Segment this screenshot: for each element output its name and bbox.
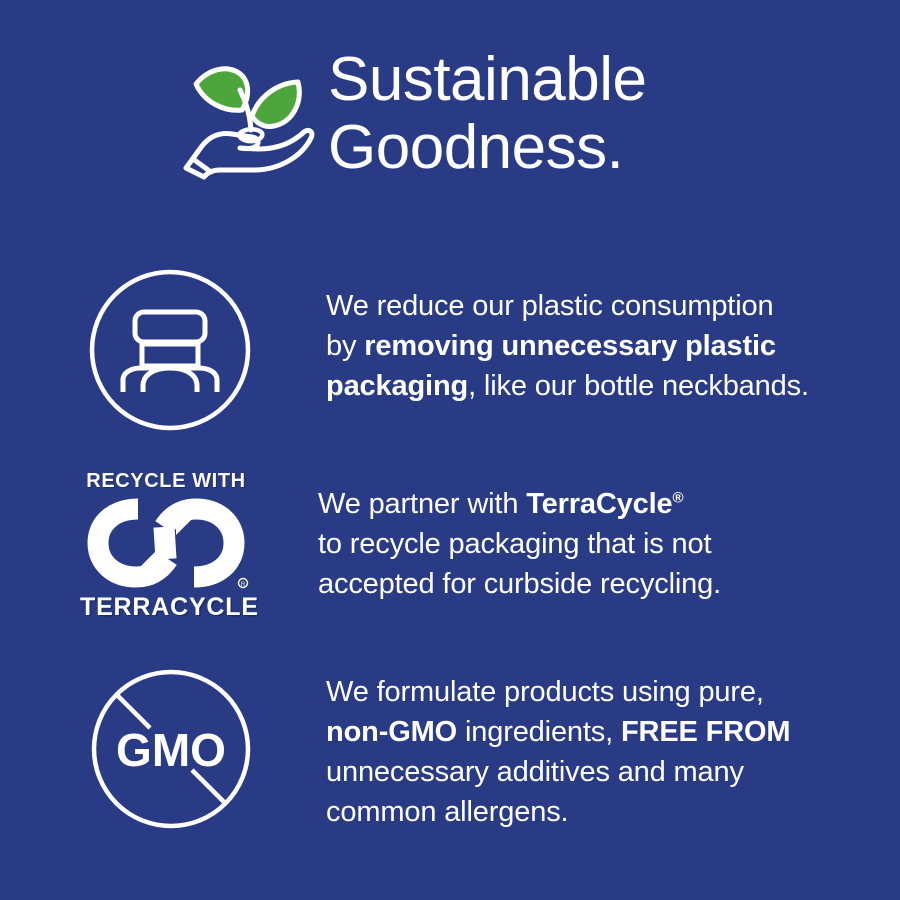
feature-row-plastic-reduction: We reduce our plastic consumption by rem…	[88, 268, 809, 432]
headline-line-2: Goodness.	[328, 114, 647, 182]
feature-text-plastic-reduction: We reduce our plastic consumption by rem…	[326, 286, 809, 406]
headline-line-1: Sustainable	[328, 46, 647, 114]
text-span-bold: non-GMO	[326, 716, 457, 748]
mobius-infinity-arrows-icon: R	[80, 495, 252, 591]
feature-text-non-gmo: We formulate products using pure, non-GM…	[326, 672, 790, 832]
brand-name: TerraCycle	[526, 488, 672, 520]
text-line: packaging, like our bottle neckbands.	[326, 366, 809, 406]
svg-text:R: R	[241, 582, 246, 588]
registered-mark: ®	[673, 489, 684, 506]
text-span-bold: packaging	[326, 370, 468, 402]
text-line: non-GMO ingredients, FREE FROM	[326, 712, 790, 752]
terracycle-logo-top-text: RECYCLE WITH	[80, 470, 252, 492]
no-gmo-circle-icon: GMO	[90, 668, 252, 830]
text-span-bold: removing unnecessary plastic	[364, 330, 776, 362]
bottle-neckband-circle-icon	[88, 268, 252, 432]
gmo-label: GMO	[116, 724, 226, 776]
sustainable-goodness-infographic: Sustainable Goodness. We reduce our plas…	[0, 0, 900, 900]
text-line: We reduce our plastic consumption	[326, 286, 809, 326]
terracycle-logo: RECYCLE WITH	[80, 470, 252, 625]
text-line: to recycle packaging that is not	[318, 524, 721, 564]
feature-row-non-gmo: GMO We formulate products using pure, no…	[90, 668, 790, 832]
text-span: , like our bottle neckbands.	[468, 370, 809, 402]
text-line: We partner with TerraCycle®	[318, 484, 721, 524]
text-span-bold: TerraCycle®	[526, 488, 683, 520]
text-line: accepted for curbside recycling.	[318, 564, 721, 604]
feature-text-terracycle: We partner with TerraCycle® to recycle p…	[318, 484, 721, 604]
text-span: ingredients,	[457, 716, 621, 748]
text-line: by removing unnecessary plastic	[326, 326, 809, 366]
text-line: We formulate products using pure,	[326, 672, 790, 712]
page-title: Sustainable Goodness.	[328, 46, 647, 182]
terracycle-logo-bottom-text: TERRACYCLE	[80, 594, 252, 620]
hand-holding-sprout-icon	[180, 50, 315, 180]
header: Sustainable Goodness.	[180, 46, 820, 206]
text-span: by	[326, 330, 364, 362]
text-span: We partner with	[318, 488, 526, 520]
text-span-bold: FREE FROM	[621, 716, 790, 748]
text-line: unnecessary additives and many	[326, 752, 790, 792]
text-line: common allergens.	[326, 792, 790, 832]
feature-row-terracycle: RECYCLE WITH	[80, 470, 721, 625]
